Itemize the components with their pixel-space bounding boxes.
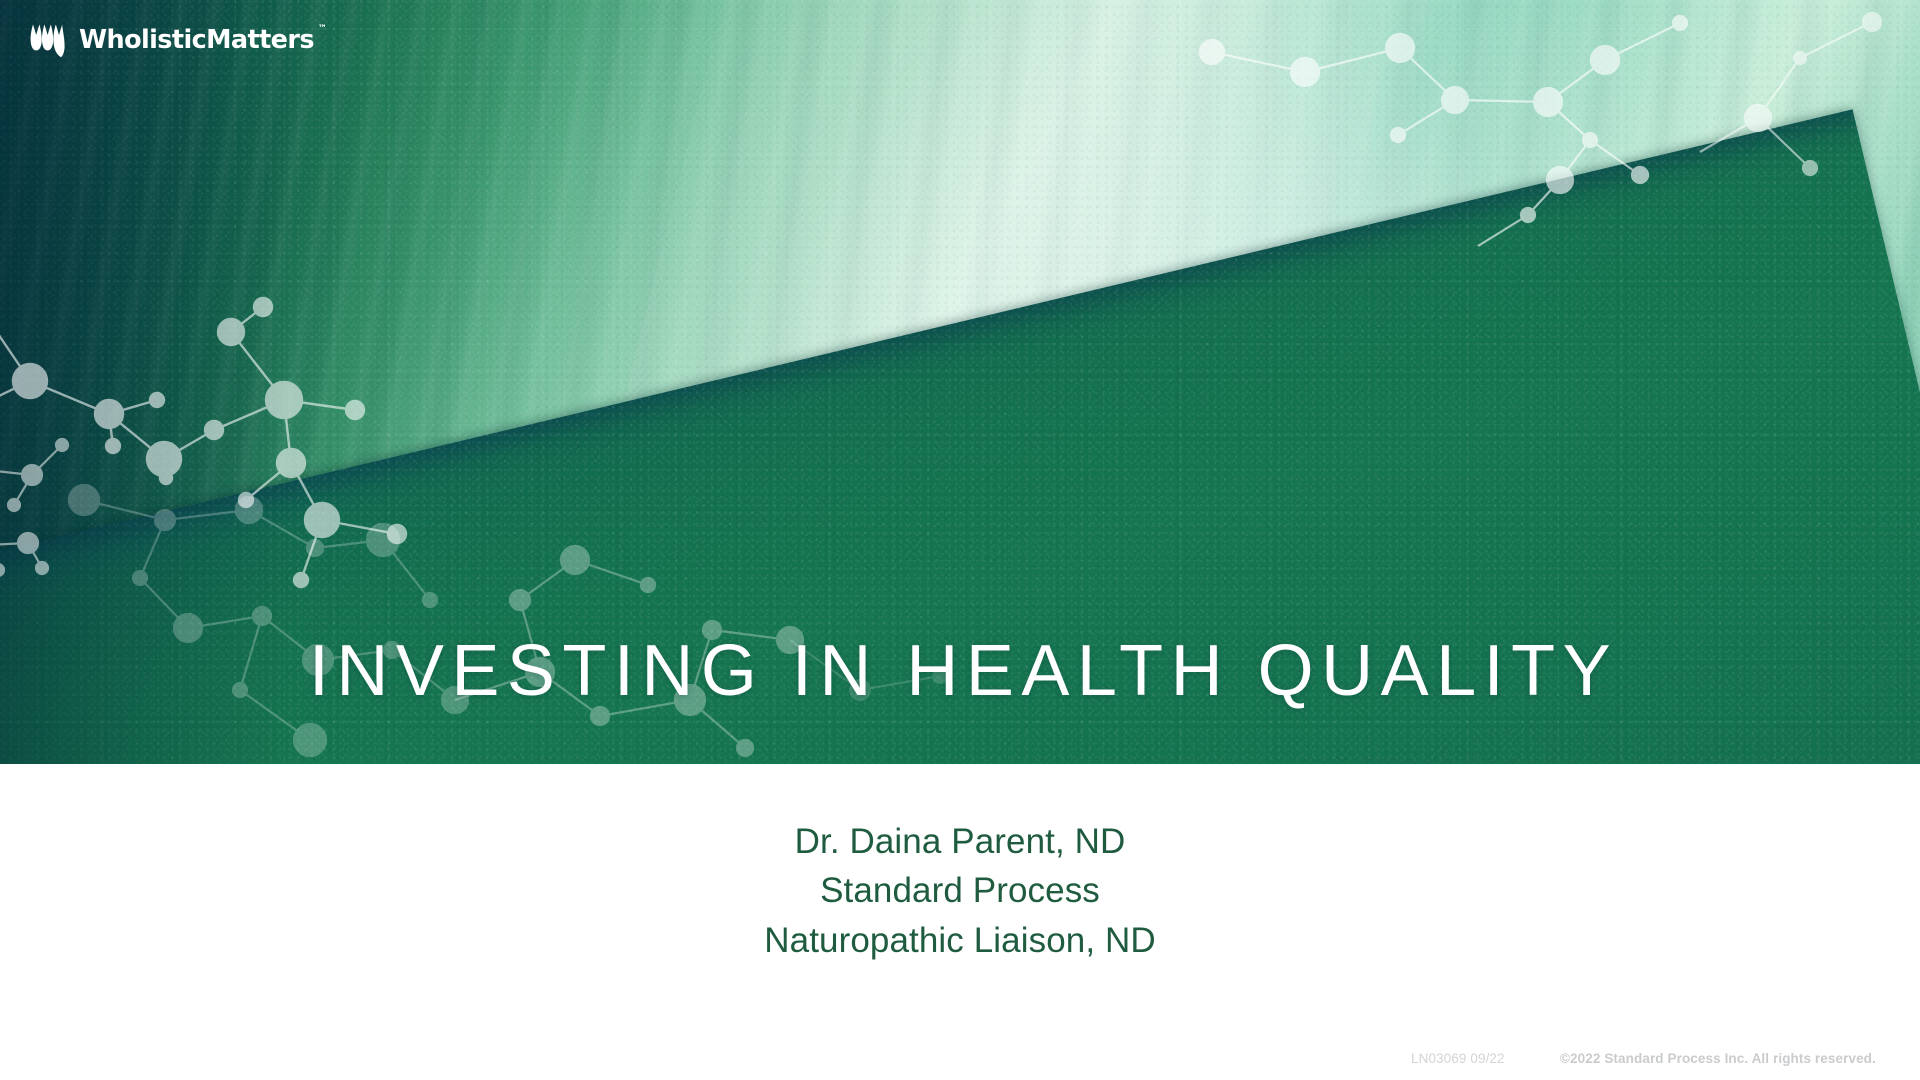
logo-wordmark-text: WholisticMatters [79,25,314,55]
footer-document-code: LN03069 09/22 [1411,1051,1505,1066]
footer-copyright: ©2022 Standard Process Inc. All rights r… [1560,1051,1876,1066]
presenter-organization: Standard Process [0,866,1920,915]
hero-background-image: WholisticMatters ™ INVESTING IN HEALTH Q… [0,0,1920,764]
logo-wordmark: WholisticMatters ™ [79,28,314,54]
slide-footer: LN03069 09/22 ©2022 Standard Process Inc… [0,1046,1920,1066]
wholisticmatters-logo[interactable]: WholisticMatters ™ [30,24,314,58]
trademark-symbol: ™ [318,25,327,34]
wholisticmatters-w-mark [30,24,68,58]
presenter-role: Naturopathic Liaison, ND [0,916,1920,965]
slide-title: INVESTING IN HEALTH QUALITY [0,633,1920,711]
lower-content-panel: Dr. Daina Parent, ND Standard Process Na… [0,764,1920,1080]
presenter-block: Dr. Daina Parent, ND Standard Process Na… [0,817,1920,965]
title-slide: WholisticMatters ™ INVESTING IN HEALTH Q… [0,0,1920,1080]
presenter-name: Dr. Daina Parent, ND [0,817,1920,866]
